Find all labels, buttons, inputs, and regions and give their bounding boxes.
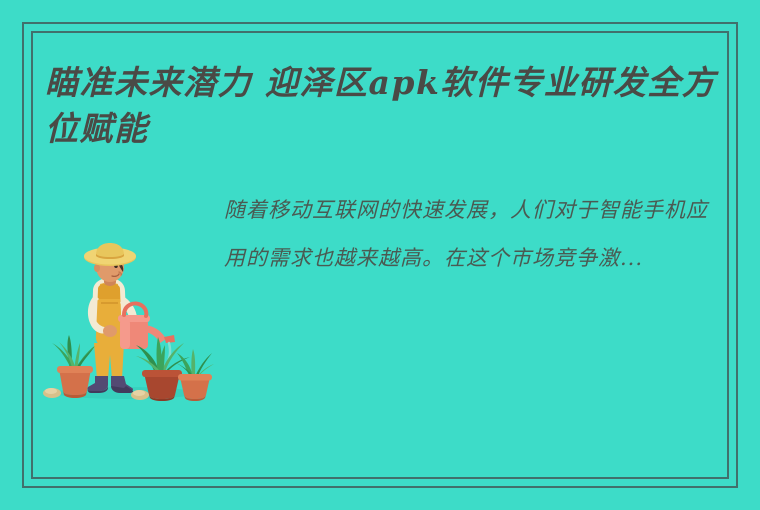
article-summary: 随着移动互联网的快速发展，人们对于智能手机应用的需求也越来越高。在这个市场竞争激… <box>224 186 722 282</box>
page-title: 瞄准未来潜力 迎泽区apk软件专业研发全方位赋能 <box>45 60 717 152</box>
article-card: 瞄准未来潜力 迎泽区apk软件专业研发全方位赋能 随着移动互联网的快速发展，人们… <box>0 0 760 510</box>
gardener-illustration <box>38 243 214 403</box>
gardener-illustration-svg <box>38 243 214 403</box>
